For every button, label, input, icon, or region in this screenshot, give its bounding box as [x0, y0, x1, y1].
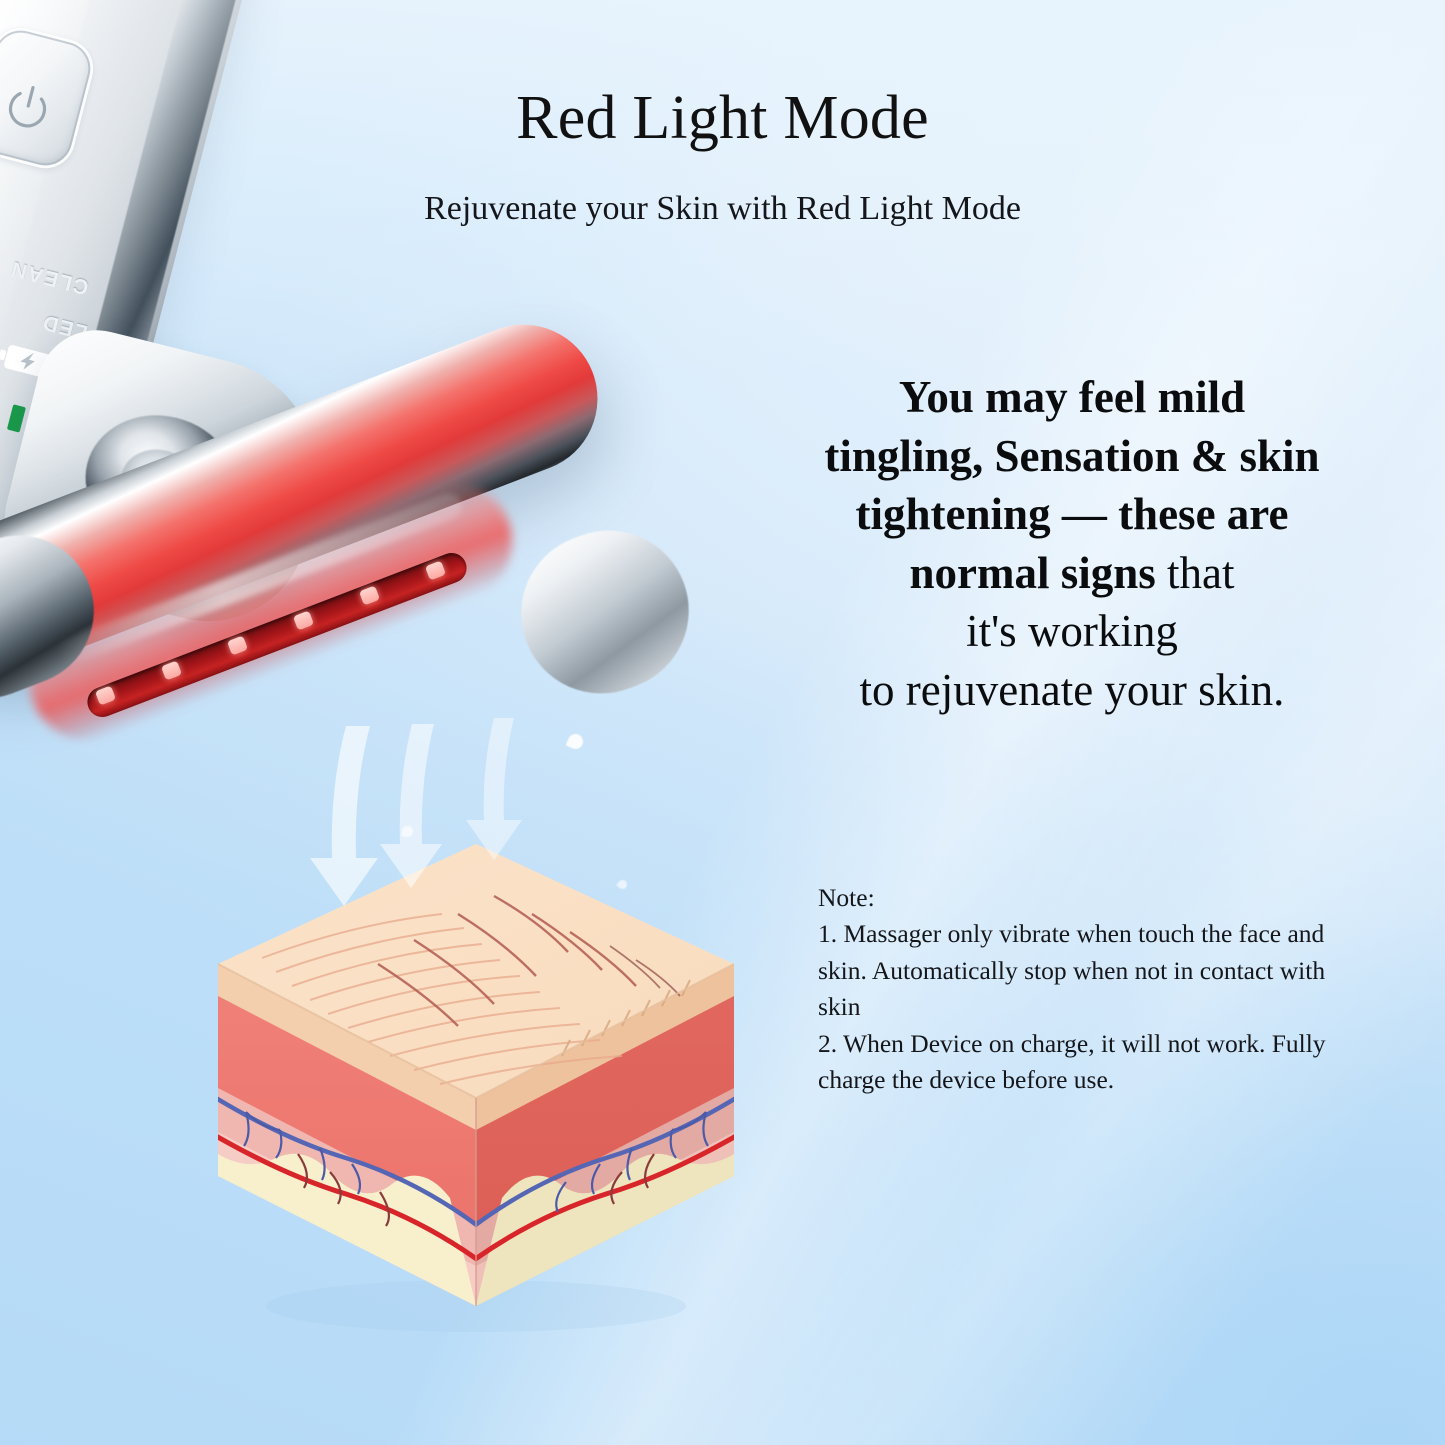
hero-line-4-tail: that [1156, 548, 1235, 598]
arrow-1 [310, 726, 378, 906]
note-line-5: charge the device before use. [818, 1062, 1366, 1098]
treatment-head-chrome-tip [498, 507, 712, 717]
hero-line-3: tightening — these are [856, 489, 1289, 539]
note-block: Note: 1. Massager only vibrate when touc… [818, 880, 1366, 1099]
product-infographic: Red Light Mode Rejuvenate your Skin with… [0, 0, 1445, 1445]
arrow-2 [380, 724, 442, 888]
hero-statement: You may feel mild tingling, Sensation & … [742, 368, 1402, 719]
note-line-3: skin [818, 989, 1366, 1025]
hero-line-4: normal signs [909, 548, 1155, 598]
light-penetration-arrows [250, 716, 580, 1046]
note-line-2: skin. Automatically stop when not in con… [818, 953, 1366, 989]
hero-line-2: tingling, Sensation & skin [824, 431, 1319, 481]
note-line-4: 2. When Device on charge, it will not wo… [818, 1026, 1366, 1062]
arrow-3 [466, 718, 522, 860]
note-line-1: 1. Massager only vibrate when touch the … [818, 916, 1366, 952]
hero-line-6: to rejuvenate your skin. [860, 665, 1285, 715]
hero-line-1: You may feel mild [899, 372, 1245, 422]
hero-line-5: it's working [966, 606, 1178, 656]
note-heading: Note: [818, 880, 1366, 916]
level-bar-3 [7, 404, 26, 432]
